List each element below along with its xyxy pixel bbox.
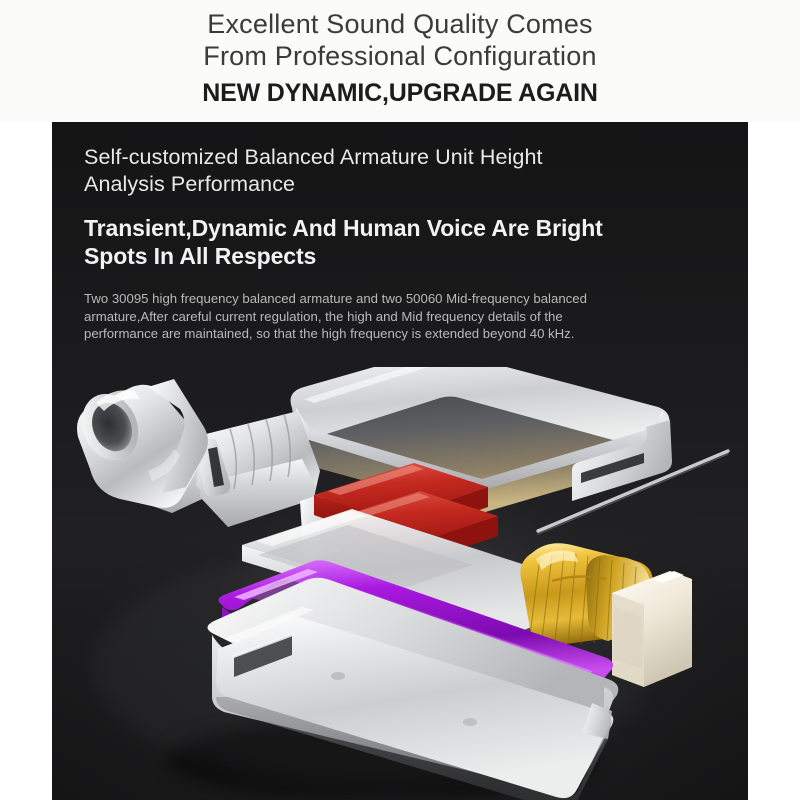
- panel-body-line-1: Two 30095 high frequency balanced armatu…: [84, 290, 716, 308]
- panel-body-line-3: performance are maintained, so that the …: [84, 325, 716, 343]
- panel-body-line-2: armature,After careful current regulatio…: [84, 308, 716, 326]
- sound-nozzle-assembly: [72, 379, 320, 527]
- panel-headline-line-1: Transient,Dynamic And Human Voice Are Br…: [84, 214, 722, 242]
- copy-block: Self-customized Balanced Armature Unit H…: [84, 144, 722, 343]
- panel-subheading-line-2: Analysis Performance: [84, 171, 722, 198]
- bottom-housing-dimple-1: [331, 672, 345, 680]
- bottom-housing-dimple-2: [463, 718, 477, 726]
- header-title-line-1: Excellent Sound Quality Comes: [207, 8, 593, 40]
- diaphragm-texture: [614, 607, 642, 669]
- dark-content-panel: Self-customized Balanced Armature Unit H…: [52, 122, 748, 800]
- panel-body-copy: Two 30095 high frequency balanced armatu…: [84, 290, 716, 343]
- header-kicker: NEW DYNAMIC,UPGRADE AGAIN: [202, 78, 597, 108]
- product-infographic-banner: Excellent Sound Quality Comes From Profe…: [0, 0, 800, 800]
- product-render-exploded-driver: [52, 367, 748, 800]
- panel-subheading-line-1: Self-customized Balanced Armature Unit H…: [84, 144, 722, 171]
- banner-header: Excellent Sound Quality Comes From Profe…: [0, 0, 800, 122]
- panel-headline-line-2: Spots In All Respects: [84, 242, 722, 270]
- product-render-svg: [52, 367, 748, 800]
- panel-headline: Transient,Dynamic And Human Voice Are Br…: [84, 214, 722, 270]
- header-title-line-2: From Professional Configuration: [203, 40, 596, 72]
